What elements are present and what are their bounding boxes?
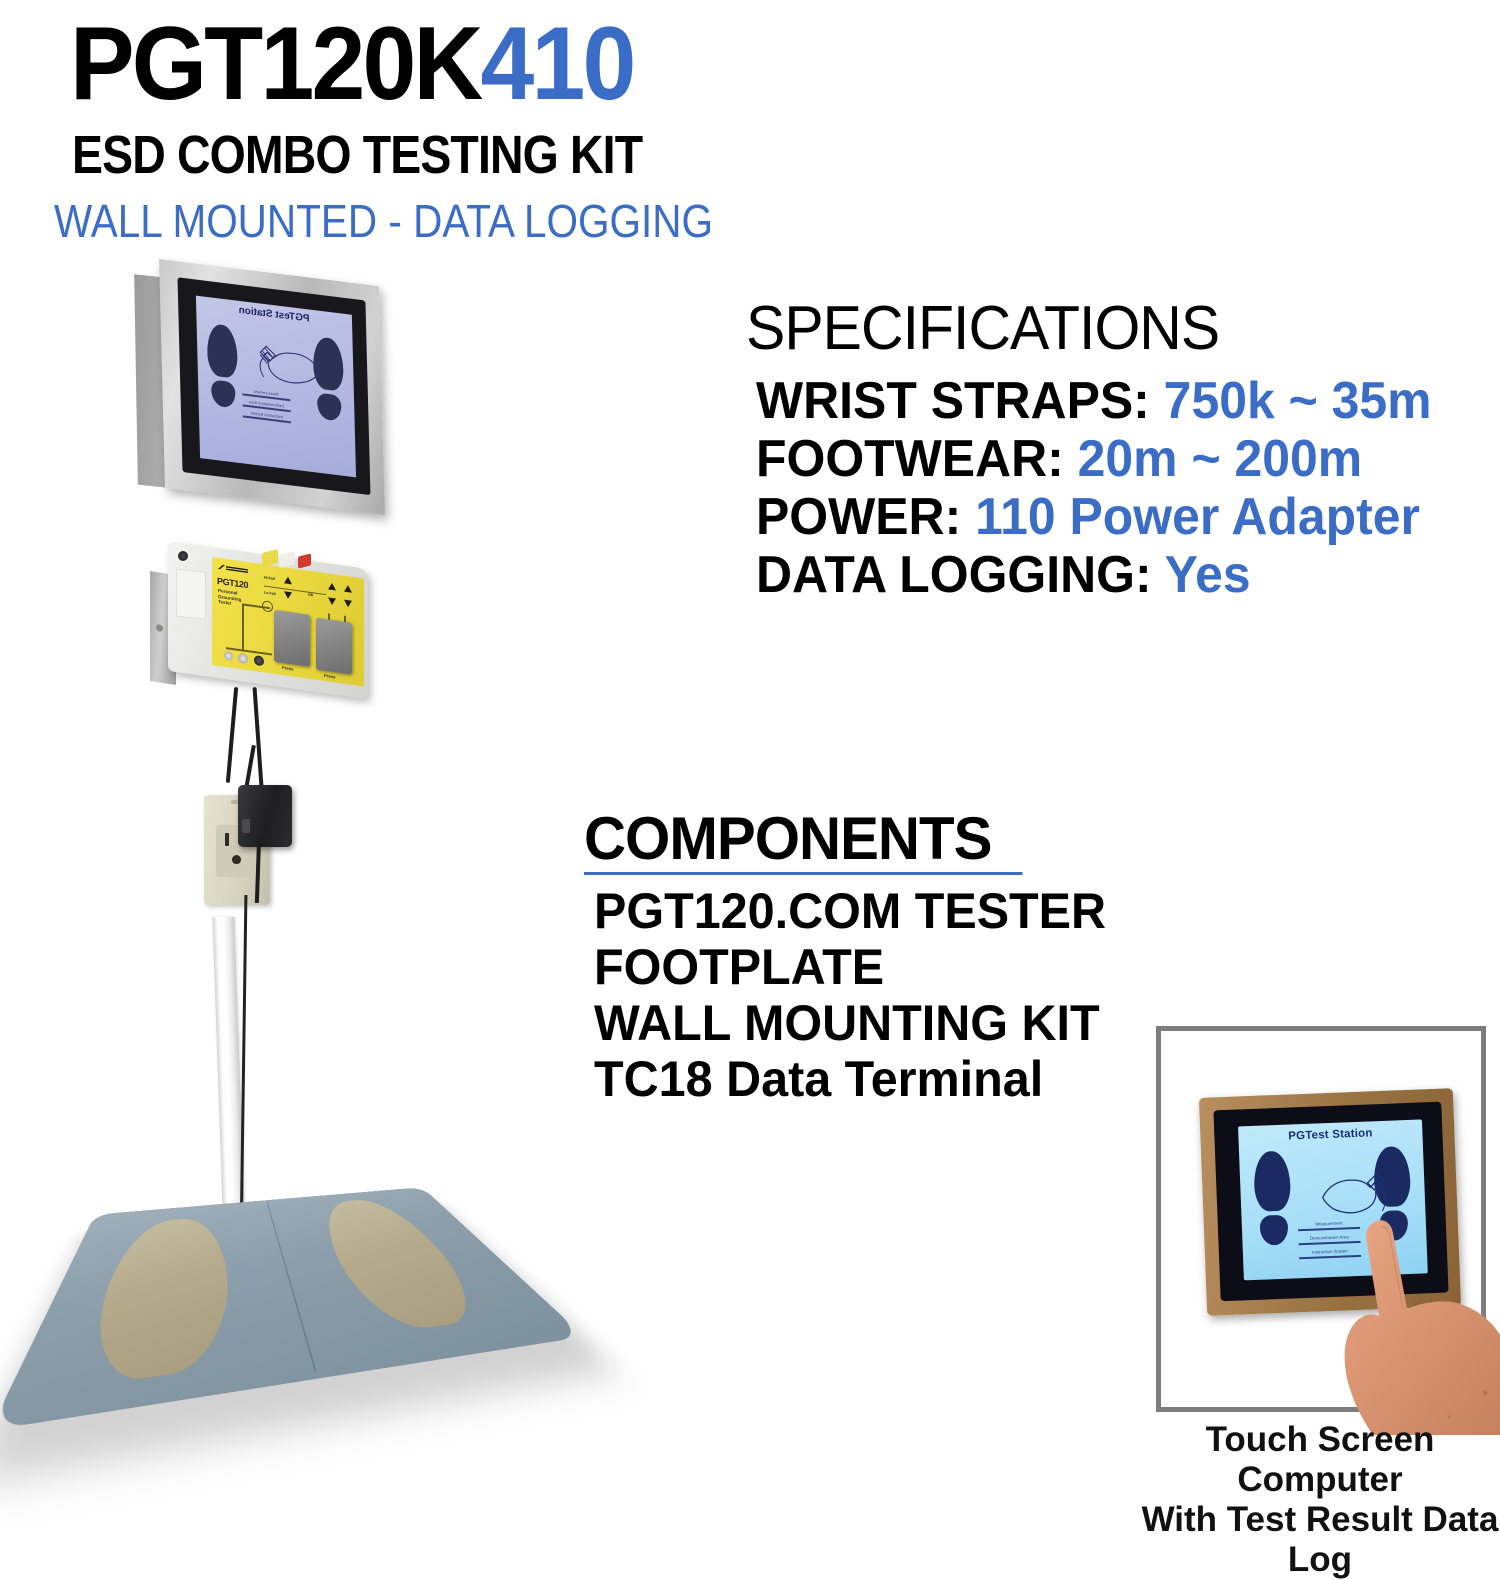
tester-banana-jack-mid[interactable] <box>238 653 248 664</box>
page-subtitle: ESD COMBO TESTING KIT <box>72 128 642 182</box>
adapter-cord-upper <box>244 745 256 789</box>
footprint-left-heel <box>211 379 236 408</box>
inset-button-underline <box>1299 1241 1361 1245</box>
tester-press-label-left: Press <box>282 665 293 672</box>
manufacturer-logo-icon <box>218 564 248 574</box>
product-photo: PGTest Station Measurement <box>110 255 470 1415</box>
tester-description-label: Personal Grounding Tester <box>218 588 241 608</box>
inset-monitor-inner-frame: PGTest Station Measurement <box>1213 1102 1448 1302</box>
footplate-pad-right[interactable] <box>312 1197 499 1335</box>
inset-screen-title: PGTest Station <box>1238 1125 1422 1144</box>
component-item: TC18 Data Terminal <box>594 1051 1186 1107</box>
tester-arrow-up-icon <box>284 576 292 584</box>
components-list: PGT120.COM TESTER FOOTPLATE WALL MOUNTIN… <box>594 883 1204 1107</box>
tester-footplate-pad-right[interactable] <box>316 618 352 675</box>
tester-arrow-down-icon <box>284 591 292 599</box>
tester-arrow-down-icon <box>328 597 336 605</box>
inset-button-label: Measurement <box>1298 1220 1360 1227</box>
tester-arrow-down-icon <box>344 600 352 608</box>
inset-button-underline <box>1299 1255 1361 1259</box>
inset-footprint-left-sole <box>1253 1151 1291 1212</box>
tester-arrow-up-icon <box>344 585 352 593</box>
tester-circuit-trace <box>242 603 244 651</box>
spec-row-wrist-straps: WRIST STRAPS: 750k ~ 35m <box>756 372 1438 430</box>
inset-caption-line-2: With Test Result Data Log <box>1140 1500 1500 1580</box>
footplate-center-seam <box>266 1202 317 1372</box>
page-tagline: WALL MOUNTED - DATA LOGGING <box>54 198 713 244</box>
tester-arrow-up-icon <box>328 582 336 590</box>
spec-label: WRIST STRAPS: <box>756 372 1150 430</box>
tester-front-panel: PGT120 Personal Grounding Tester Hi Fail… <box>212 557 364 686</box>
inset-button-label: Instruction Screen <box>1299 1248 1361 1255</box>
outlet-ground-hole <box>232 855 241 864</box>
tester-footplate-pad-left[interactable] <box>274 610 310 667</box>
inset-caption-line-1: Touch Screen Computer <box>1140 1420 1500 1500</box>
monitor-inner-frame: PGTest Station Measurement <box>177 277 370 495</box>
monitor-screen: PGTest Station Measurement <box>196 296 356 478</box>
header-block: PGT120K410 ESD COMBO TESTING KIT WALL MO… <box>0 0 760 250</box>
tester-lo-fail-label: Lo Fail <box>264 590 276 596</box>
title-model-suffix: 410 <box>481 6 634 122</box>
inset-monitor-wood-bezel: PGTest Station Measurement <box>1199 1088 1461 1316</box>
footplate-assembly <box>104 1200 434 1400</box>
spec-value: 750k ~ 35m <box>1164 372 1432 430</box>
component-item: FOOTPLATE <box>594 939 1186 995</box>
inset-footprint-left-heel <box>1259 1215 1288 1246</box>
spec-value: 110 Power Adapter <box>975 488 1420 546</box>
components-section: COMPONENTS PGT120.COM TESTER FOOTPLATE W… <box>584 808 1204 1107</box>
power-adapter <box>238 785 292 847</box>
tester-top-knob[interactable] <box>178 551 188 561</box>
inset-button-label: Demonstration Area <box>1298 1234 1360 1241</box>
inset-button-underline <box>1298 1227 1360 1231</box>
monitor-steel-bezel: PGTest Station Measurement <box>159 259 385 515</box>
specifications-list: WRIST STRAPS: 750k ~ 35m FOOTWEAR: 20m ~… <box>746 372 1466 604</box>
spec-row-data-logging: DATA LOGGING: Yes <box>756 546 1438 604</box>
connector-yellow <box>262 549 278 567</box>
wall-outlet-assembly <box>204 785 334 925</box>
footprint-right-heel <box>317 393 342 422</box>
spec-label: POWER: <box>756 488 961 546</box>
inset-photo-caption: Touch Screen Computer With Test Result D… <box>1140 1420 1500 1580</box>
inset-photo-scene: PGTest Station Measurement <box>1161 1031 1481 1407</box>
pgt120-tester-unit: PGT120 Personal Grounding Tester Hi Fail… <box>150 535 400 705</box>
footprint-left-sole <box>207 323 238 379</box>
inset-monitor-screen: PGTest Station Measurement <box>1238 1119 1428 1280</box>
inset-photo-frame: PGTest Station Measurement <box>1156 1026 1486 1412</box>
tester-banana-jack-left[interactable] <box>224 651 233 661</box>
specifications-section: SPECIFICATIONS WRIST STRAPS: 750k ~ 35m … <box>746 296 1466 604</box>
footplate-pad-left[interactable] <box>75 1215 234 1388</box>
wall-mounted-monitor: PGTest Station Measurement <box>128 263 388 513</box>
outlet-screw <box>231 800 238 804</box>
spec-row-power: POWER: 110 Power Adapter <box>756 488 1438 546</box>
tester-circuit-trace <box>226 647 272 655</box>
tester-press-label-right: Press <box>324 673 335 680</box>
title-model-prefix: PGT120K <box>70 6 481 122</box>
hand-wrist-strap-icon <box>253 337 324 392</box>
tester-top-connectors <box>262 549 332 565</box>
monitor-button-row-1[interactable]: Measurement <box>242 387 290 393</box>
component-item: PGT120.COM TESTER <box>594 883 1186 939</box>
specifications-heading: SPECIFICATIONS <box>746 296 1430 362</box>
inset-button-row-1[interactable]: Measurement <box>1298 1220 1360 1222</box>
spec-row-footwear: FOOTWEAR: 20m ~ 200m <box>756 430 1438 488</box>
page-title: PGT120K410 <box>70 12 634 116</box>
components-heading: COMPONENTS <box>584 808 1022 875</box>
tester-hi-fail-label: Hi Fail <box>264 575 275 581</box>
outlet-slot-left <box>225 833 229 846</box>
tester-side-label <box>176 569 206 620</box>
spec-label: DATA LOGGING: <box>756 546 1152 604</box>
tester-indicator-led <box>254 655 264 666</box>
spec-value: Yes <box>1165 546 1251 604</box>
inset-button-row-3[interactable]: Instruction Screen <box>1299 1248 1361 1250</box>
component-item: WALL MOUNTING KIT <box>594 995 1186 1051</box>
inset-hand-wrist-strap-icon <box>1318 1165 1392 1220</box>
tester-wrist-jack-icon[interactable] <box>262 600 273 613</box>
inset-button-row-2[interactable]: Demonstration Area <box>1298 1234 1360 1236</box>
footplate-surface[interactable] <box>0 1187 584 1430</box>
spec-value: 20m ~ 200m <box>1078 430 1362 488</box>
spec-label: FOOTWEAR: <box>756 430 1064 488</box>
